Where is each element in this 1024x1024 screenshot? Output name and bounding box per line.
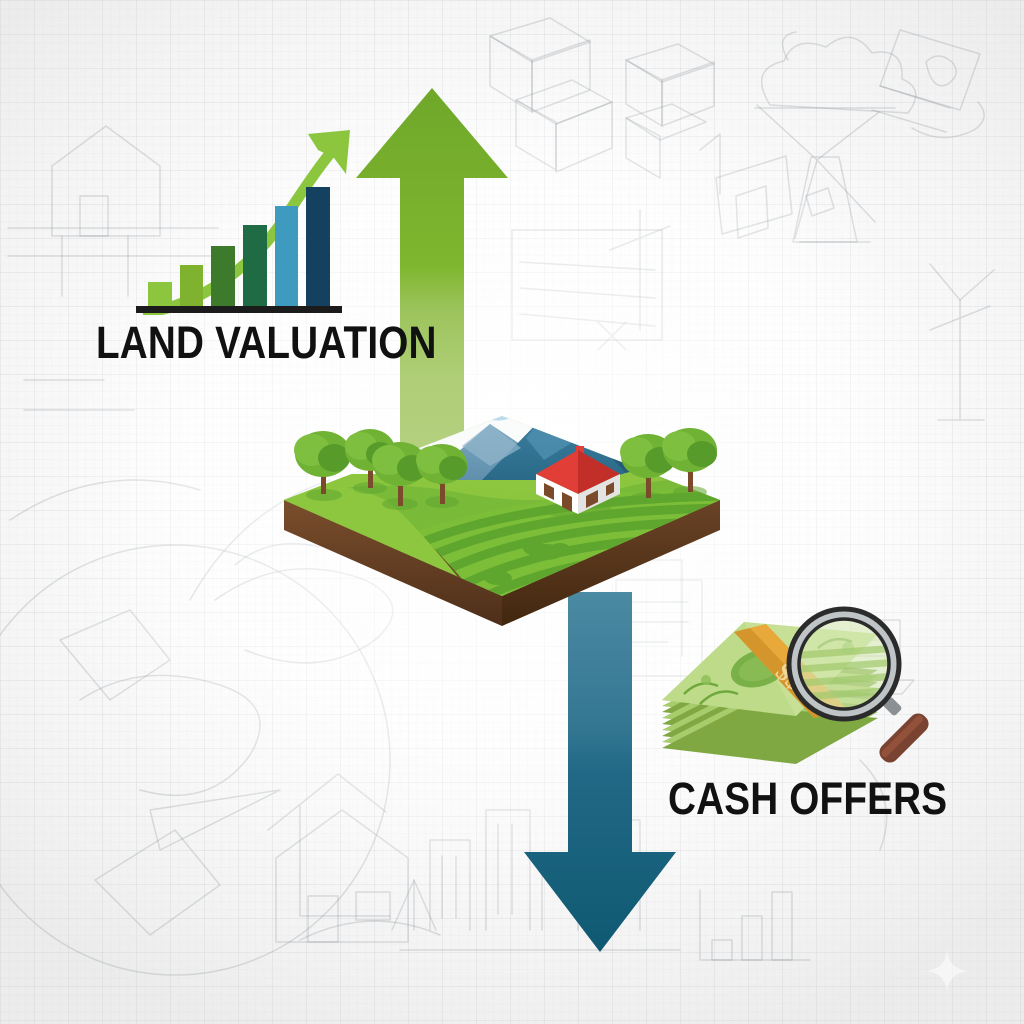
bar-6 (306, 187, 330, 306)
infographic-canvas: $$ LAND VALUATION CASH OFFERS (0, 0, 1024, 1024)
chart-baseline (136, 306, 342, 313)
land-valuation-chart (110, 120, 400, 315)
cash-offers-label: CASH OFFERS (668, 774, 947, 824)
bar-1 (148, 282, 172, 306)
bar-series (148, 176, 330, 306)
bar-2 (180, 265, 204, 306)
bar-5 (275, 206, 299, 306)
sparkle-star-icon (924, 948, 970, 994)
cash-stack-with-magnifier: $$ (648, 596, 938, 776)
land-valuation-label: LAND VALUATION (96, 318, 437, 368)
bar-3 (211, 246, 235, 306)
bar-4 (243, 225, 267, 306)
